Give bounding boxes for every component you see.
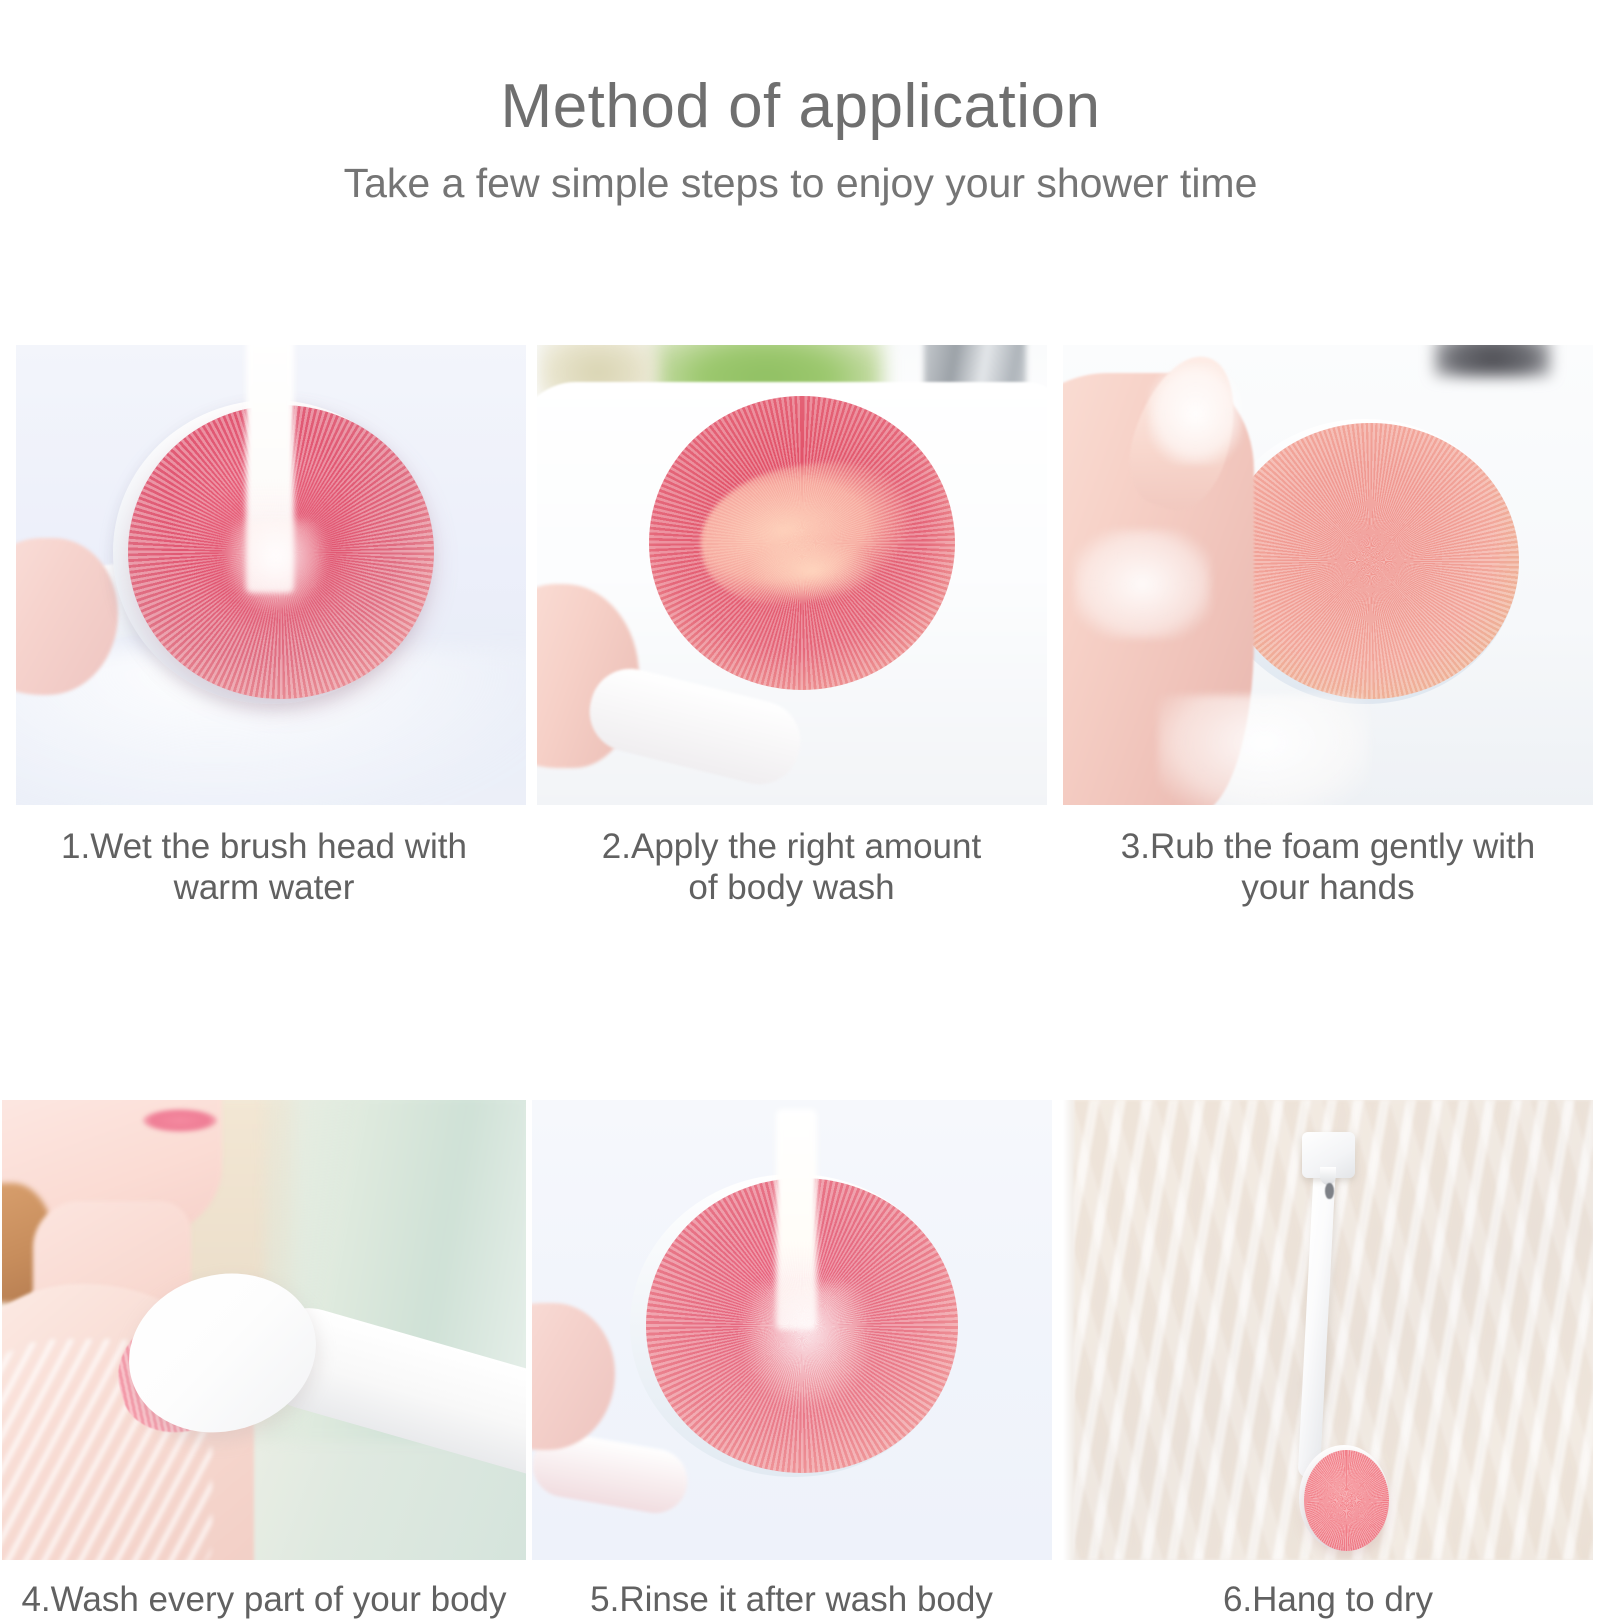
silicone-bristles	[1222, 423, 1519, 699]
dark-fixture	[1434, 345, 1551, 377]
step-6-caption: 6.Hang to dry	[1055, 1580, 1601, 1621]
step-6-photo	[1063, 1100, 1593, 1560]
step-card-5: 5.Rinse it after wash body	[528, 1100, 1055, 1621]
step-3-caption: 3.Rub the foam gently with your hands	[1055, 827, 1601, 908]
step-card-3: 3.Rub the foam gently with your hands	[1055, 345, 1601, 908]
step-card-6: 6.Hang to dry	[1055, 1100, 1601, 1621]
step-card-4: 4.Wash every part of your body	[0, 1100, 528, 1621]
step-1-photo	[16, 345, 526, 805]
steps-row-bottom: 4.Wash every part of your body 5.Rinse i…	[0, 1100, 1601, 1621]
water-splash	[745, 1284, 870, 1404]
brush-head	[1222, 423, 1519, 699]
steps-row-top: 1.Wet the brush head with warm water 2.A…	[0, 345, 1601, 908]
brush-head	[1304, 1450, 1389, 1551]
step-5-photo	[532, 1100, 1052, 1560]
step-4-caption: 4.Wash every part of your body	[0, 1580, 528, 1621]
step-2-photo	[537, 345, 1047, 805]
silicone-bristles	[1304, 1450, 1389, 1551]
step-card-1: 1.Wet the brush head with warm water	[0, 345, 528, 908]
body-wash-gel-streak	[746, 538, 879, 602]
wall-edge	[1063, 1100, 1076, 1560]
step-1-caption: 1.Wet the brush head with warm water	[0, 827, 528, 908]
foam-patch	[1158, 695, 1370, 805]
page-subtitle: Take a few simple steps to enjoy your sh…	[0, 161, 1601, 206]
page-title: Method of application	[0, 74, 1601, 139]
foam-patch	[1148, 363, 1243, 464]
header: Method of application Take a few simple …	[0, 0, 1601, 206]
hang-hole	[1325, 1183, 1333, 1199]
step-5-caption: 5.Rinse it after wash body	[528, 1580, 1055, 1621]
step-4-photo	[2, 1100, 526, 1560]
step-2-caption: 2.Apply the right amount of body wash	[528, 827, 1055, 908]
foam-patch	[1074, 529, 1212, 639]
steps-grid: 1.Wet the brush head with warm water 2.A…	[0, 345, 1601, 1621]
step-3-photo	[1063, 345, 1593, 805]
step-card-2: 2.Apply the right amount of body wash	[528, 345, 1055, 908]
water-splash	[225, 520, 327, 612]
